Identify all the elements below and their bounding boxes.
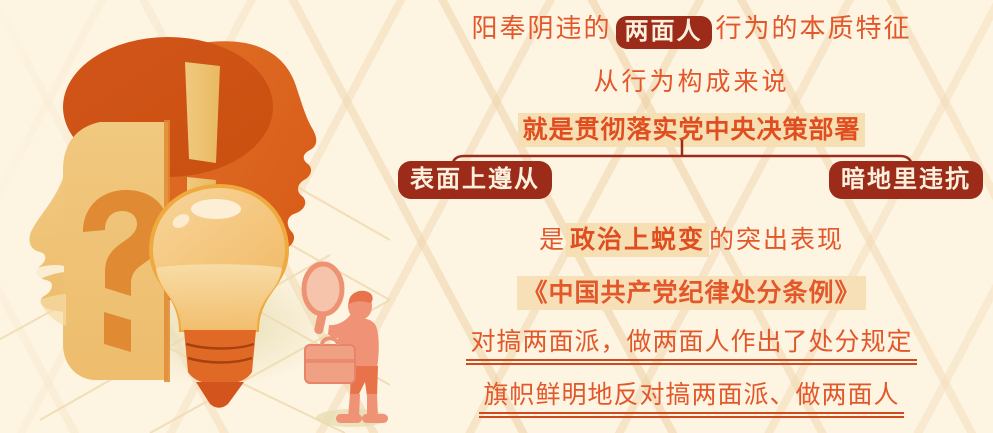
headline-line-5: 《中国共产党纪律处分条例》 — [390, 273, 993, 309]
face-chin-detail — [40, 294, 66, 326]
text-column: 阳奉阴违的两面人行为的本质特征 从行为构成来说 就是贯彻落实党中央决策部署 表面… — [390, 0, 993, 433]
businessman-with-magnifier — [304, 264, 388, 427]
headline-line-4: 是政治上蜕变的突出表现 — [390, 220, 993, 256]
line4-suffix: 的突出表现 — [709, 225, 844, 254]
magnifier-lens — [304, 264, 342, 314]
headline-suffix: 行为的本质特征 — [716, 14, 912, 44]
briefcase-strap — [305, 359, 355, 363]
badge-two-faced-person: 两面人 — [616, 16, 712, 49]
illustration-two-faced-head — [0, 0, 390, 433]
person-shoe-right — [362, 414, 388, 423]
line4-prefix: 是 — [539, 225, 566, 254]
poster-root: 阳奉阴违的两面人行为的本质特征 从行为构成来说 就是贯彻落实党中央决策部署 表面… — [0, 0, 993, 433]
branch-badge-outward-compliance: 表面上遵从 — [398, 161, 552, 199]
person-shoe-left — [336, 414, 362, 423]
underlined-text-oppose-duplicity: 旗帜鲜明地反对搞两面派、做两面人 — [483, 375, 899, 418]
exclamation-mark-icon — [185, 62, 220, 163]
headline-line-7: 旗帜鲜明地反对搞两面派、做两面人 — [390, 375, 993, 418]
head-left-face-profile — [29, 178, 63, 312]
bulb-highlight-large — [191, 199, 241, 219]
headline-line-6: 对搞两面派，做两面人作出了处分规定 — [390, 322, 993, 365]
bulb-base — [184, 330, 256, 384]
headline-prefix: 阳奉阴违的 — [471, 14, 611, 44]
headline-line-1: 阳奉阴违的两面人行为的本质特征 — [390, 8, 993, 49]
highlight-regulation-title: 《中国共产党纪律处分条例》 — [517, 276, 865, 310]
headline-line-2: 从行为构成来说 — [390, 62, 993, 98]
highlight-political-degeneration: 政治上蜕变 — [566, 223, 709, 257]
underlined-text-penalty-rules: 对搞两面派，做两面人作出了处分规定 — [470, 322, 912, 365]
branch-badge-covert-defiance: 暗地里违抗 — [829, 161, 983, 199]
briefcase — [305, 345, 355, 383]
